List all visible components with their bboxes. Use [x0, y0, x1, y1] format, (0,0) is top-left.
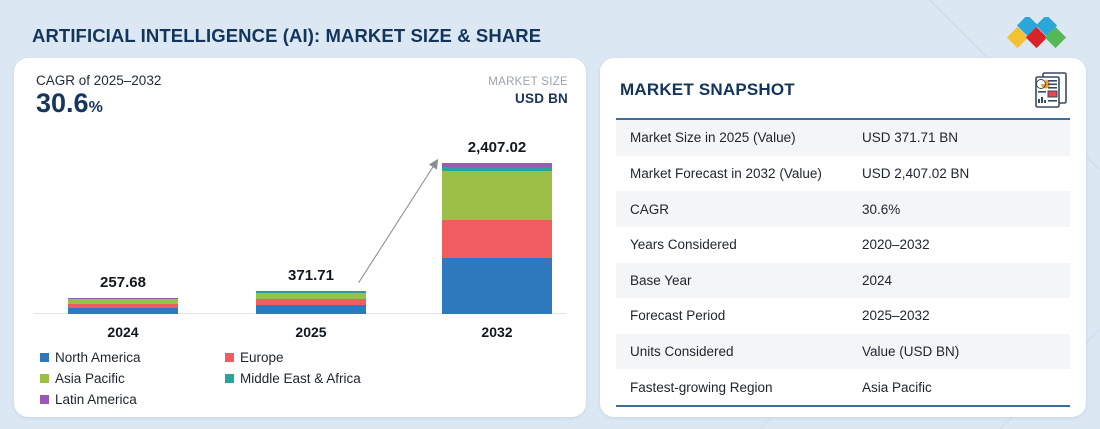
- bar-total-label: 2,407.02: [468, 139, 526, 156]
- table-row: Market Forecast in 2032 (Value)USD 2,407…: [616, 156, 1070, 192]
- legend-item-north-america[interactable]: North America: [40, 350, 215, 365]
- snapshot-row-key: Years Considered: [630, 237, 862, 252]
- legend-item-latin-america[interactable]: Latin America: [40, 392, 208, 407]
- legend-item-europe[interactable]: Europe: [225, 350, 400, 365]
- snapshot-header: MARKET SNAPSHOT: [614, 70, 1072, 108]
- snapshot-row-value: Asia Pacific: [862, 380, 932, 395]
- legend-swatch-icon: [225, 353, 234, 362]
- table-row: Fastest-growing RegionAsia Pacific: [616, 369, 1070, 405]
- legend-item-middle-east-africa[interactable]: Middle East & Africa: [225, 371, 393, 386]
- bar-stack[interactable]: [256, 291, 366, 314]
- bar-stack[interactable]: [442, 163, 552, 314]
- bar-segment-north-america[interactable]: [256, 305, 366, 314]
- table-row: Forecast Period2025–2032: [616, 298, 1070, 334]
- legend-label: Middle East & Africa: [240, 371, 361, 386]
- snapshot-row-key: Market Forecast in 2032 (Value): [630, 166, 862, 181]
- bar-group-2032: 2,407.02: [442, 139, 552, 314]
- content-row: CAGR of 2025–2032 30.6% MARKET SIZE USD …: [14, 58, 1086, 417]
- page-title: ARTIFICIAL INTELLIGENCE (AI): MARKET SIZ…: [32, 25, 541, 47]
- snapshot-row-value: USD 2,407.02 BN: [862, 166, 969, 181]
- snapshot-row-key: Market Size in 2025 (Value): [630, 130, 862, 145]
- snapshot-table: Market Size in 2025 (Value)USD 371.71 BN…: [616, 120, 1070, 405]
- cagr-percent-sign: %: [89, 99, 103, 116]
- snapshot-bottom-rule: [616, 405, 1070, 407]
- bar-total-label: 257.68: [100, 274, 146, 291]
- legend-swatch-icon: [40, 374, 49, 383]
- legend-item-asia-pacific[interactable]: Asia Pacific: [40, 371, 215, 386]
- legend-swatch-icon: [40, 353, 49, 362]
- x-axis-label-2024: 2024: [68, 324, 178, 340]
- snapshot-row-key: Base Year: [630, 273, 862, 288]
- market-size-chart-card: CAGR of 2025–2032 30.6% MARKET SIZE USD …: [14, 58, 586, 417]
- units-value: USD BN: [488, 91, 568, 108]
- snapshot-row-value: 2024: [862, 273, 892, 288]
- snapshot-row-value: 2025–2032: [862, 308, 930, 323]
- snapshot-row-value: Value (USD BN): [862, 344, 959, 359]
- legend-label: North America: [55, 350, 141, 365]
- snapshot-title: MARKET SNAPSHOT: [620, 80, 795, 100]
- bar-segment-asia-pacific[interactable]: [442, 171, 552, 221]
- bar-group-2025: 371.71: [256, 267, 366, 314]
- table-row: Market Size in 2025 (Value)USD 371.71 BN: [616, 120, 1070, 156]
- header: ARTIFICIAL INTELLIGENCE (AI): MARKET SIZ…: [14, 14, 1086, 58]
- chart-header: CAGR of 2025–2032 30.6% MARKET SIZE USD …: [28, 70, 572, 119]
- snapshot-row-key: Forecast Period: [630, 308, 862, 323]
- legend-swatch-icon: [225, 374, 234, 383]
- report-document-icon: [1034, 72, 1068, 108]
- legend-label: Asia Pacific: [55, 371, 125, 386]
- units-caption: MARKET SIZE: [488, 75, 568, 91]
- snapshot-row-key: Units Considered: [630, 344, 862, 359]
- stacked-bar-chart: 257.68371.712,407.02 202420252032: [34, 123, 566, 348]
- snapshot-row-value: 30.6%: [862, 202, 900, 217]
- snapshot-row-value: USD 371.71 BN: [862, 130, 958, 145]
- cagr-value: 30.6%: [36, 89, 161, 119]
- legend-label: Latin America: [55, 392, 137, 407]
- snapshot-row-key: CAGR: [630, 202, 862, 217]
- chart-plot-area: 257.68371.712,407.02: [34, 123, 566, 314]
- x-axis-label-2025: 2025: [256, 324, 366, 340]
- cagr-number: 30.6: [36, 88, 89, 118]
- chart-legend: North AmericaEuropeAsia PacificMiddle Ea…: [28, 348, 572, 409]
- legend-swatch-icon: [40, 395, 49, 404]
- units-block: MARKET SIZE USD BN: [488, 72, 568, 107]
- market-snapshot-card: MARKET SNAPSHOT: [600, 58, 1086, 417]
- bar-stack[interactable]: [68, 298, 178, 314]
- table-row: Years Considered2020–2032: [616, 227, 1070, 263]
- bar-segment-north-america[interactable]: [442, 258, 552, 314]
- cagr-block: CAGR of 2025–2032 30.6%: [36, 72, 161, 119]
- diamond-cluster-logo-icon: [1006, 17, 1070, 55]
- bar-total-label: 371.71: [288, 267, 334, 284]
- x-axis-label-2032: 2032: [442, 324, 552, 340]
- snapshot-row-key: Fastest-growing Region: [630, 380, 862, 395]
- table-row: Units ConsideredValue (USD BN): [616, 334, 1070, 370]
- legend-label: Europe: [240, 350, 284, 365]
- bar-segment-asia-pacific[interactable]: [256, 293, 366, 300]
- table-row: Base Year2024: [616, 263, 1070, 299]
- bar-group-2024: 257.68: [68, 274, 178, 314]
- table-row: CAGR30.6%: [616, 191, 1070, 227]
- snapshot-row-value: 2020–2032: [862, 237, 930, 252]
- bar-segment-europe[interactable]: [442, 220, 552, 258]
- page-root: ARTIFICIAL INTELLIGENCE (AI): MARKET SIZ…: [0, 0, 1100, 429]
- bar-segment-north-america[interactable]: [68, 308, 178, 314]
